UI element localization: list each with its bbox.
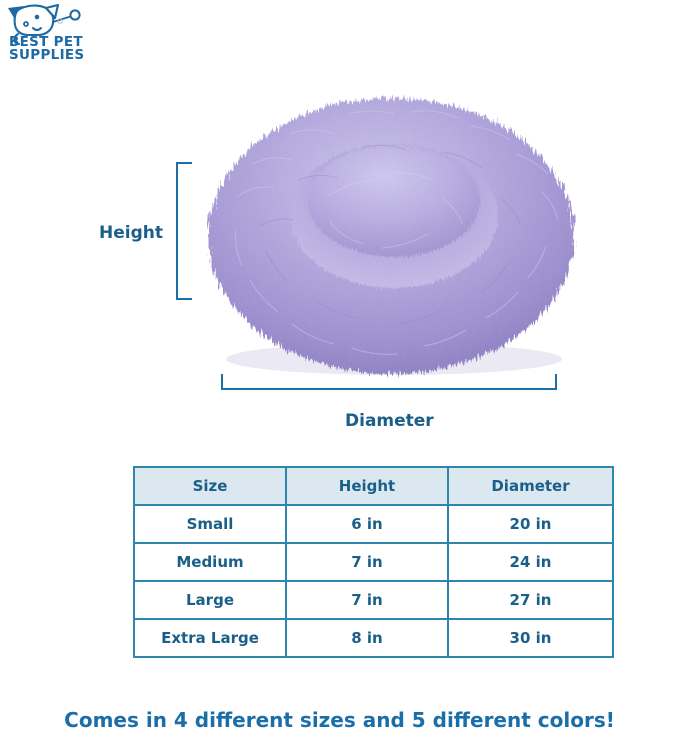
column-header-height: Height <box>286 467 448 505</box>
table-row: Small 6 in 20 in <box>134 505 613 543</box>
cell-height: 7 in <box>286 543 448 581</box>
column-header-diameter: Diameter <box>448 467 613 505</box>
height-dimension-bracket <box>176 162 192 300</box>
cell-size: Medium <box>134 543 286 581</box>
diameter-dimension-bracket <box>221 374 557 390</box>
cell-height: 6 in <box>286 505 448 543</box>
cell-diameter: 24 in <box>448 543 613 581</box>
cell-size: Large <box>134 581 286 619</box>
footer-tagline: Comes in 4 different sizes and 5 differe… <box>0 708 679 732</box>
size-chart-table: Size Height Diameter Small 6 in 20 in Me… <box>133 466 614 658</box>
logo-wordmark-line2: SUPPLIES <box>9 49 95 62</box>
cell-diameter: 20 in <box>448 505 613 543</box>
diameter-dimension-label: Diameter <box>345 411 434 431</box>
donut-pet-bed-photo <box>198 76 584 384</box>
column-header-size: Size <box>134 467 286 505</box>
table-header-row: Size Height Diameter <box>134 467 613 505</box>
logo-wordmark: BEST PET SUPPLIES <box>9 36 95 62</box>
cell-height: 7 in <box>286 581 448 619</box>
table-row: Large 7 in 27 in <box>134 581 613 619</box>
cell-height: 8 in <box>286 619 448 657</box>
cell-diameter: 27 in <box>448 581 613 619</box>
table-row: Extra Large 8 in 30 in <box>134 619 613 657</box>
height-dimension-label: Height <box>99 223 163 243</box>
cell-size: Small <box>134 505 286 543</box>
cell-size: Extra Large <box>134 619 286 657</box>
cell-diameter: 30 in <box>448 619 613 657</box>
brand-logo: BEST PET SUPPLIES <box>4 4 96 72</box>
table-row: Medium 7 in 24 in <box>134 543 613 581</box>
